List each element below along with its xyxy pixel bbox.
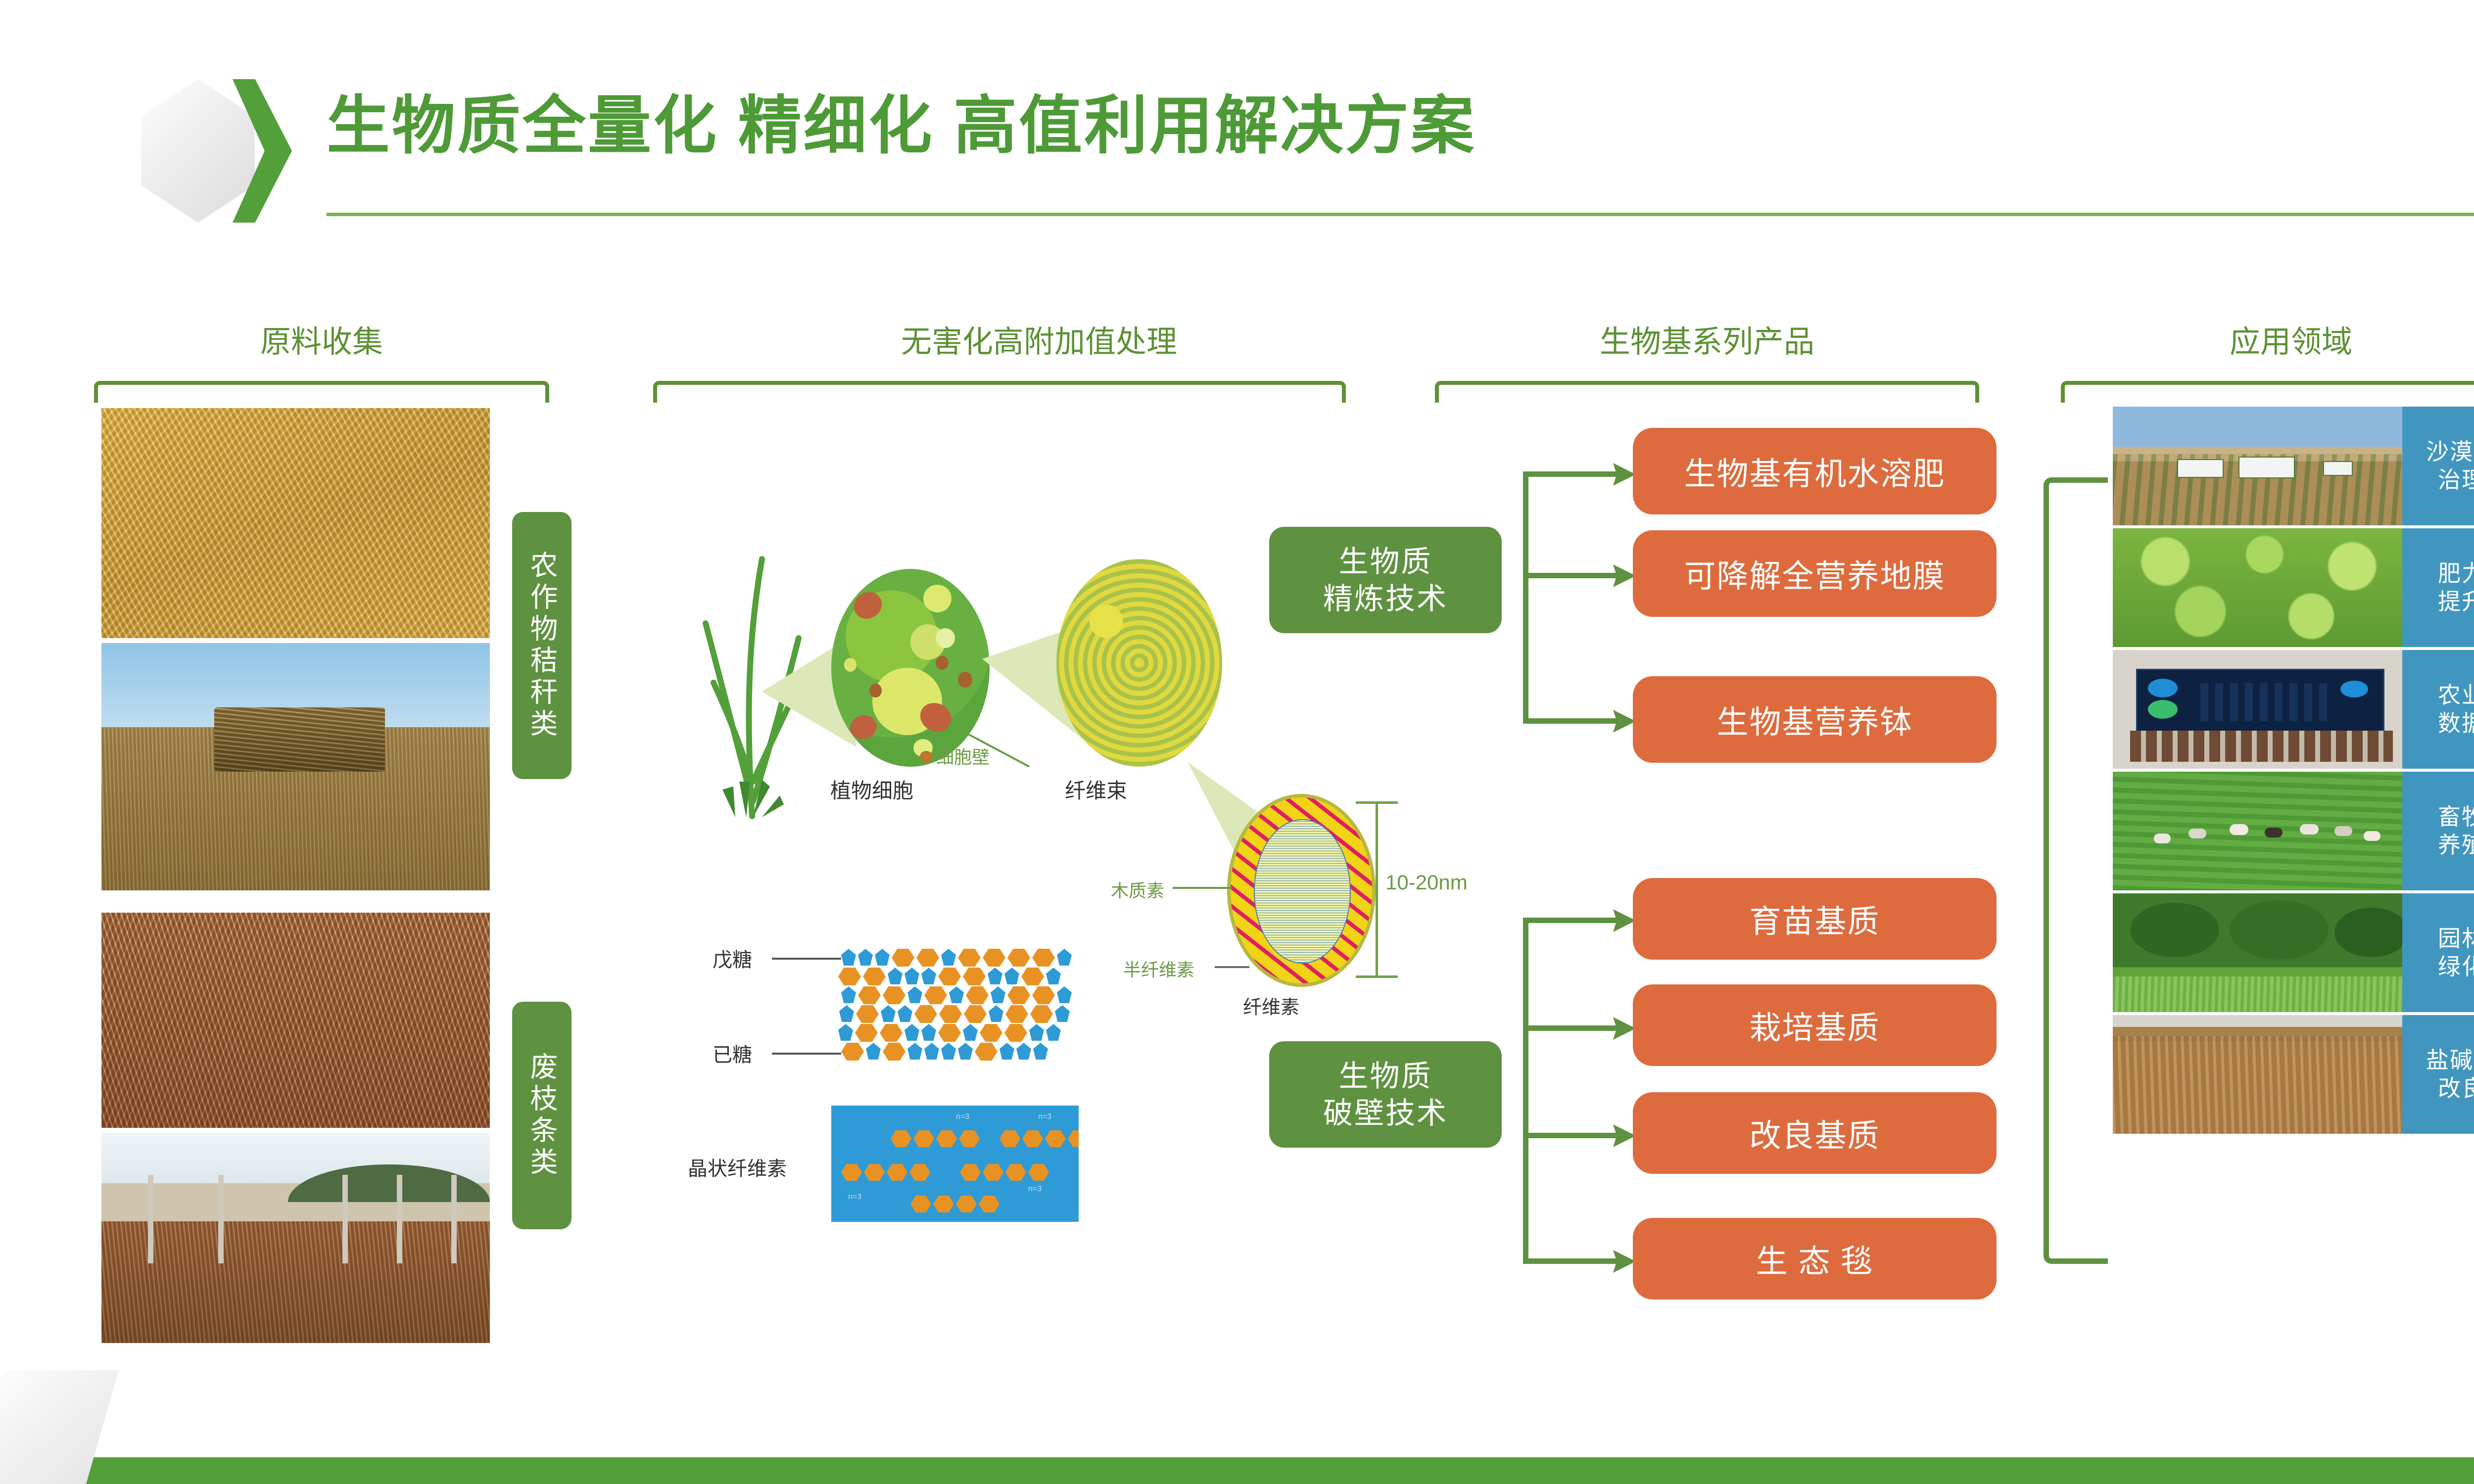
bracket-raw-material (94, 381, 549, 403)
section-header-biobased-products: 生物基系列产品 (1435, 317, 1979, 361)
tech-line-2: 破壁技术 (1323, 1095, 1448, 1132)
application-label-saline-alkali-improvement[interactable]: 盐碱地 改良 (2402, 1015, 2474, 1134)
lignin-leader-line (1173, 887, 1232, 889)
app-line-1: 沙漠化 (2426, 438, 2474, 466)
connector-wallbreak-branch-4 (1523, 1258, 1622, 1264)
app-line-2: 养殖 (2438, 831, 2474, 860)
biomass-wall-breaking-tech[interactable]: 生物质 破壁技术 (1269, 1041, 1502, 1148)
connector-refining-branch-1 (1523, 471, 1622, 477)
label-cell-wall: 细胞壁 (936, 743, 990, 769)
connector-wallbreak-branch-2 (1523, 1025, 1622, 1031)
park-trees-photo (2113, 893, 2405, 1012)
dimension-tick-bottom (1356, 975, 1398, 978)
fiber-bundle-illustration (1056, 559, 1222, 767)
label-plant-cell: 植物细胞 (830, 774, 913, 804)
application-bracket (2044, 477, 2108, 1264)
tech-line-1: 生物质 (1339, 543, 1432, 580)
hexagon-logo-icon (141, 79, 255, 223)
label-fiber-bundle: 纤维束 (1065, 774, 1127, 804)
application-label-landscape-greening[interactable]: 园林 绿化 (2402, 893, 2474, 1012)
seedling-substrate[interactable]: 育苗基质 (1633, 878, 1997, 960)
app-line-2: 数据 (2438, 709, 2474, 738)
corn-straw-photo (101, 408, 490, 638)
biomass-refining-tech[interactable]: 生物质 精炼技术 (1269, 527, 1502, 633)
cultivation-substrate[interactable]: 栽培基质 (1633, 984, 1997, 1066)
sugar-chain-diagram (841, 949, 1103, 1063)
label-hemicellulose: 半纤维素 (1123, 956, 1194, 981)
label-dimension: 10-20nm (1385, 871, 1468, 894)
bracket-harmless-processing (653, 381, 1346, 403)
connector-refining-branch-3 (1523, 718, 1622, 724)
label-cellulose: 纤维素 (1243, 992, 1299, 1019)
application-label-fertility-improvement[interactable]: 肥力 提升 (2402, 528, 2474, 647)
title-underline-divider (327, 213, 2474, 216)
label-crystalline-cellulose: 晶状纤维素 (688, 1153, 787, 1181)
saline-soil-photo (2113, 1015, 2405, 1134)
orchard-pruning-photo (101, 1133, 490, 1343)
pruned-branches-photo (101, 913, 490, 1128)
app-line-1: 园林 (2438, 925, 2474, 953)
dimension-tick-top (1356, 801, 1398, 804)
pentose-leader-line (772, 958, 841, 960)
ecological-blanket[interactable]: 生 态 毯 (1633, 1218, 1997, 1299)
label-hexose: 已糖 (713, 1039, 752, 1067)
data-control-room-photo (2113, 650, 2405, 769)
section-header-application-fields: 应用领域 (2068, 317, 2474, 361)
dimension-vertical-line (1376, 801, 1378, 977)
desert-control-photo (2113, 407, 2405, 525)
connector-wallbreak-spine (1523, 918, 1528, 1264)
app-line-2: 治理 (2438, 466, 2474, 495)
section-header-raw-material: 原料收集 (148, 317, 495, 361)
bracket-biobased-products (1435, 381, 1979, 403)
bio-based-nutrition-pot[interactable]: 生物基营养钵 (1633, 676, 1997, 763)
connector-wallbreak-branch-3 (1523, 1133, 1622, 1138)
application-label-desertification-control[interactable]: 沙漠化 治理 (2402, 407, 2474, 525)
application-label-livestock-breeding[interactable]: 畜牧 养殖 (2402, 772, 2474, 890)
connector-refining-spine (1523, 471, 1528, 724)
app-line-1: 畜牧 (2438, 803, 2474, 832)
cabbage-field-photo (2113, 528, 2405, 647)
crop-straw-tag: 农作物秸秆类 (512, 512, 571, 779)
bracket-application-fields (2061, 381, 2474, 403)
page-title: 生物质全量化 精细化 高值利用解决方案 (327, 92, 1476, 161)
sheep-grassland-photo (2113, 772, 2405, 890)
bio-organic-water-soluble-fertilizer[interactable]: 生物基有机水溶肥 (1633, 428, 1997, 514)
app-line-1: 肥力 (2438, 559, 2474, 588)
plant-cell-illustration (831, 569, 990, 767)
connector-refining-branch-2 (1523, 573, 1622, 578)
application-label-agriculture-data[interactable]: 农业 数据 (2402, 650, 2474, 769)
tech-line-1: 生物质 (1339, 1058, 1432, 1095)
waste-branch-tag: 废枝条类 (512, 1002, 571, 1229)
cellulose-nanofiber-illustration (1227, 794, 1376, 987)
app-line-2: 绿化 (2438, 953, 2474, 981)
improvement-substrate[interactable]: 改良基质 (1633, 1092, 1997, 1174)
app-line-2: 提升 (2438, 588, 2474, 616)
hemicellulose-leader-line (1215, 966, 1249, 968)
crystalline-cellulose-diagram: n=3 n=3 n=3 n=3 (831, 1106, 1079, 1222)
app-line-1: 盐碱地 (2426, 1046, 2474, 1075)
section-header-harmless-processing: 无害化高附加值处理 (717, 317, 1361, 361)
label-pentose: 戊糖 (713, 944, 752, 973)
straw-bale-field-photo (101, 643, 490, 890)
app-line-1: 农业 (2438, 681, 2474, 710)
degradable-full-nutrition-mulch-film[interactable]: 可降解全营养地膜 (1633, 530, 1997, 617)
footer-green-bar (0, 1457, 2474, 1484)
infographic-canvas: 生物质全量化 精细化 高值利用解决方案 原料收集 无害化高附加值处理 生物基系列… (0, 0, 2474, 1484)
app-line-2: 改良 (2438, 1074, 2474, 1103)
connector-wallbreak-branch-1 (1523, 918, 1622, 923)
label-lignin: 木质素 (1111, 877, 1164, 902)
tech-line-2: 精炼技术 (1323, 580, 1448, 617)
hexose-leader-line (772, 1053, 841, 1055)
